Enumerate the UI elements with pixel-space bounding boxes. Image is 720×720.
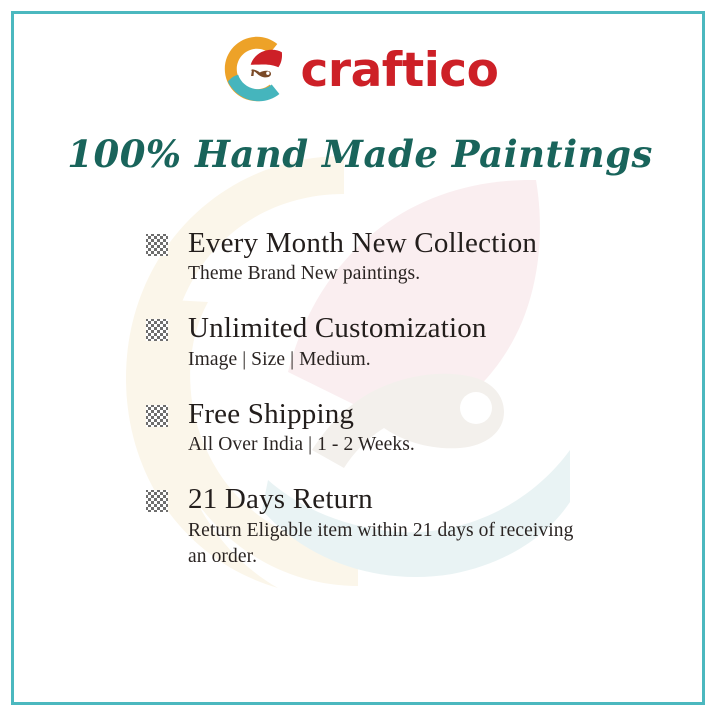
brand-wordmark: craftico [301, 47, 499, 94]
brand-logo: craftico [0, 34, 720, 104]
features-list: Every Month New Collection Theme Brand N… [0, 228, 720, 570]
feature-item: Every Month New Collection Theme Brand N… [0, 228, 720, 287]
feature-item: 21 Days Return Return Eligable item with… [0, 484, 720, 570]
feature-description: Return Eligable item within 21 days of r… [188, 518, 588, 570]
feature-item: Free Shipping All Over India | 1 - 2 Wee… [0, 399, 720, 458]
logo-red-brush [250, 50, 281, 68]
craftico-circle-paintbrush-logo [222, 34, 292, 104]
woven-mesh-square-icon [145, 489, 169, 513]
woven-mesh-square-icon [145, 404, 169, 428]
feature-description: Image | Size | Medium. [188, 347, 588, 373]
feature-description: Theme Brand New paintings. [188, 261, 588, 287]
woven-mesh-square-icon [145, 233, 169, 257]
feature-item: Unlimited Customization Image | Size | M… [0, 313, 720, 372]
logo-handle-hole [266, 72, 269, 75]
feature-title: 21 Days Return [188, 484, 720, 515]
feature-title: Free Shipping [188, 399, 720, 430]
feature-title: Unlimited Customization [188, 313, 720, 344]
tagline: 100% Hand Made Paintings [0, 132, 720, 176]
promo-banner: craftico 100% Hand Made Paintings Ev [0, 0, 720, 720]
logo-teal-arc [227, 75, 278, 101]
woven-mesh-square-icon [145, 318, 169, 342]
feature-description: All Over India | 1 - 2 Weeks. [188, 432, 588, 458]
feature-title: Every Month New Collection [188, 228, 720, 259]
